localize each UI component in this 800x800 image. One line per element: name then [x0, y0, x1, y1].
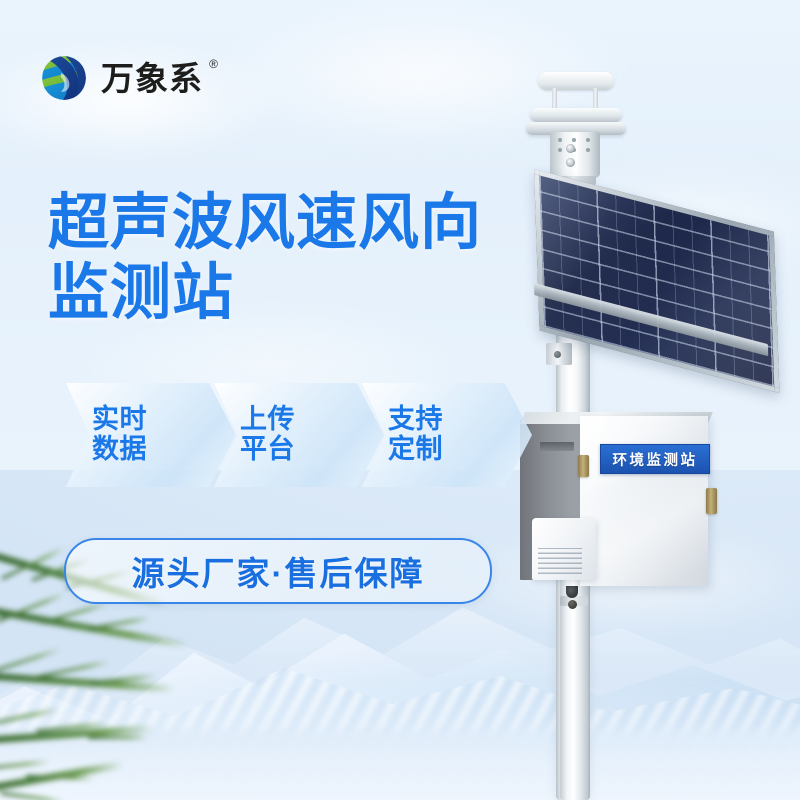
panel-mount-bolt [554, 351, 561, 358]
feature-badge-realtime-data: 实时 数据 [66, 383, 236, 487]
page-title: 超声波风速风向 监测站 [48, 188, 518, 327]
globe-swirl-logo-icon [38, 52, 90, 104]
badge-line-1: 实时 [92, 405, 147, 435]
badge-label: 上传 平台 [240, 405, 295, 464]
badge-line-2: 定制 [388, 435, 443, 465]
badge-line-2: 平台 [240, 435, 295, 465]
trademark-symbol: ® [209, 58, 219, 70]
pole-bolt [568, 600, 577, 609]
guarantee-pill: 源头厂家·售后保障 [64, 538, 492, 604]
cabinet-latch [706, 488, 717, 514]
solar-panel-assembly [520, 165, 780, 375]
feature-badge-group: 实时 数据 上传 平台 支持 定制 [66, 383, 506, 487]
vent-grill [538, 548, 582, 574]
cable-gland [566, 586, 578, 598]
feature-badge-upload-platform: 上传 平台 [214, 383, 384, 487]
cabinet-label-text: 环境监测站 [613, 449, 698, 470]
sensor-port [566, 144, 575, 153]
shield-post [552, 88, 557, 110]
cabinet-vent-slot [540, 442, 574, 451]
brand-name: 万象系 ® [101, 62, 203, 95]
radiation-shield-top-plate [538, 72, 614, 90]
cabinet-latch [578, 455, 589, 477]
promo-image-canvas: 环境监测站 [0, 0, 800, 800]
ultrasonic-anemometer-sensor [520, 60, 630, 170]
badge-label: 支持 定制 [388, 405, 443, 464]
radiation-shield-mid-plate [530, 108, 622, 122]
guarantee-pill-text: 源头厂家·售后保障 [132, 547, 425, 595]
badge-line-2: 数据 [92, 435, 147, 465]
badge-line-1: 支持 [388, 405, 443, 435]
brand-name-text: 万象系 [101, 60, 203, 97]
feature-badge-custom-support: 支持 定制 [362, 383, 532, 487]
headline-line-1: 超声波风速风向 [48, 188, 518, 258]
panel-glare [539, 175, 774, 387]
shield-post [593, 88, 598, 110]
badge-label: 实时 数据 [92, 405, 147, 464]
brand-logo: 万象系 ® [38, 52, 203, 104]
cabinet-label-plate: 环境监测站 [600, 444, 710, 474]
cabinet-front-door [580, 416, 708, 586]
badge-line-1: 上传 [240, 405, 295, 435]
headline-line-2: 监测站 [48, 258, 518, 328]
